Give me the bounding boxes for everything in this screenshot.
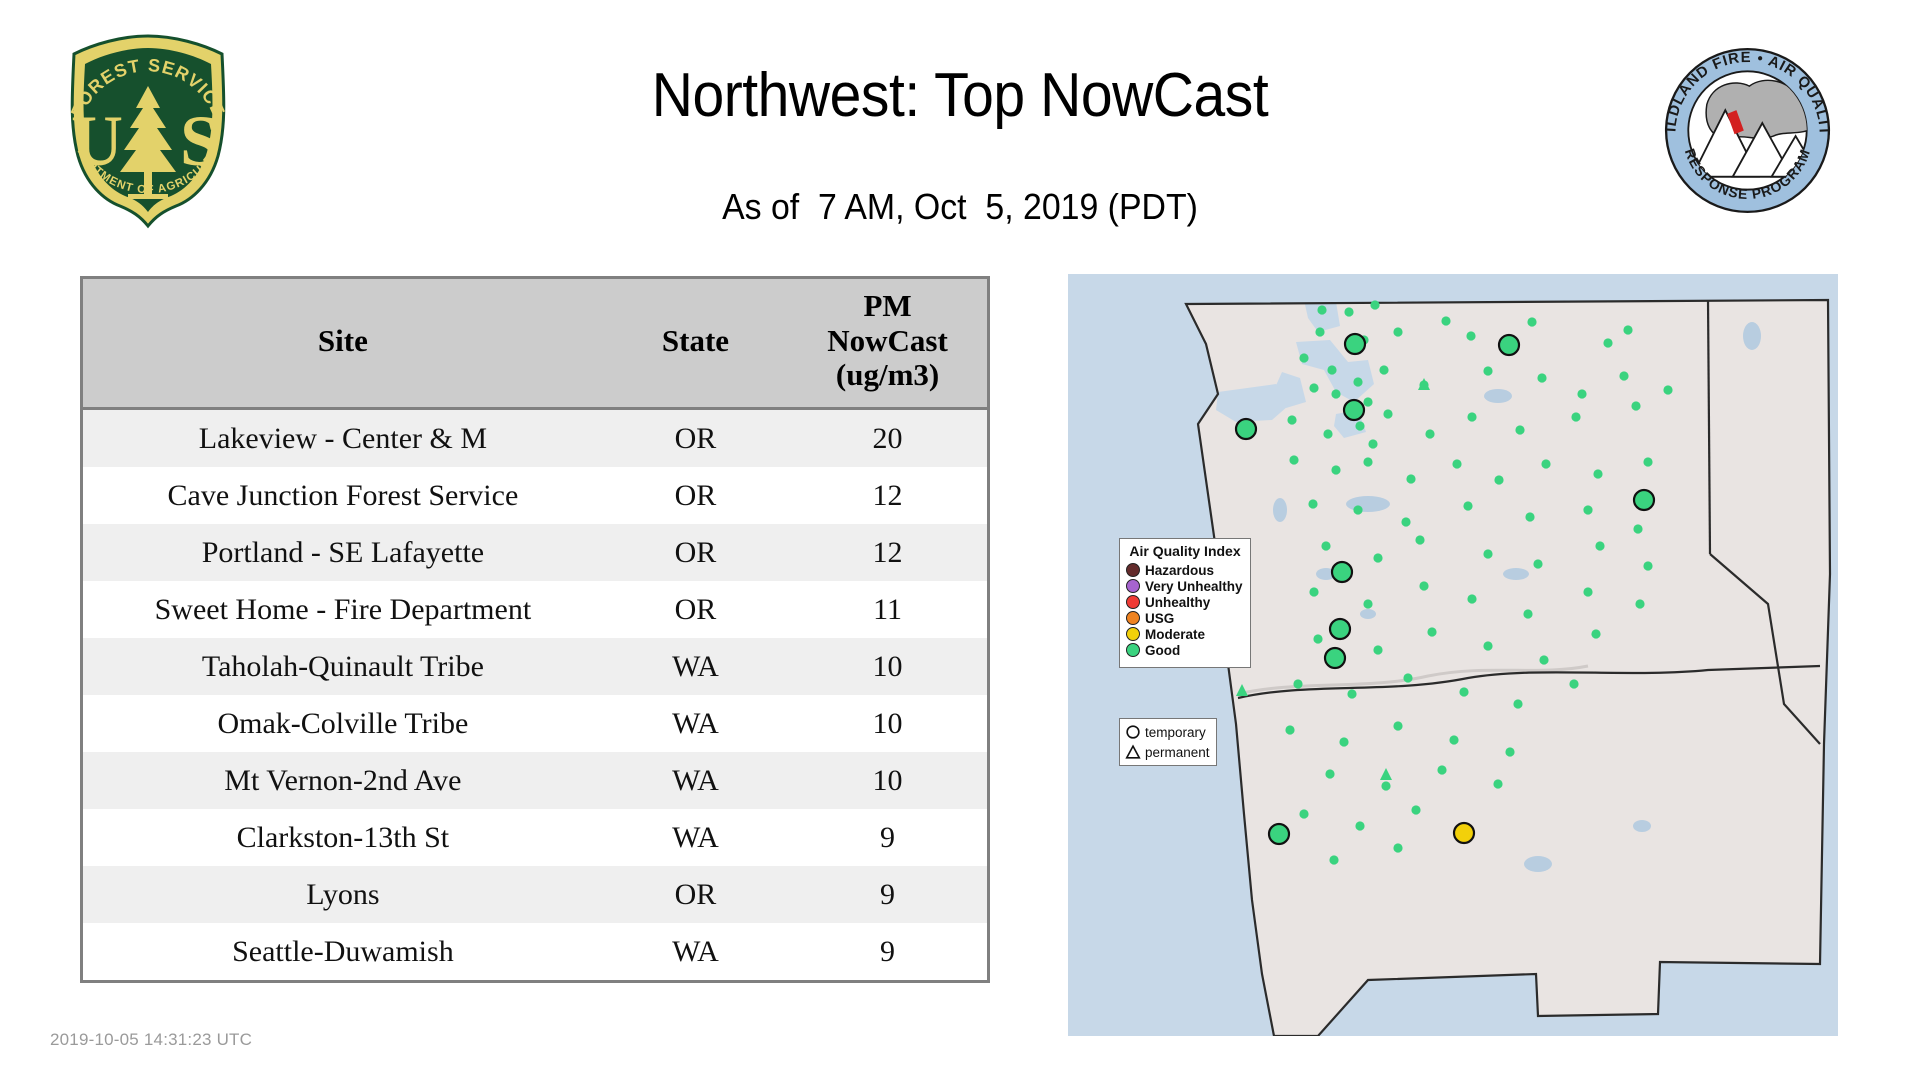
monitor-dot[interactable] bbox=[1593, 469, 1602, 478]
table-header: Site State PM NowCast (ug/m3) bbox=[83, 279, 987, 409]
monitor-dot[interactable] bbox=[1344, 307, 1353, 316]
monitor-dot[interactable] bbox=[1466, 331, 1475, 340]
aqi-legend-row: Unhealthy bbox=[1126, 594, 1244, 610]
monitor-dot[interactable] bbox=[1353, 377, 1362, 386]
monitor-dot[interactable] bbox=[1355, 421, 1364, 430]
monitor-dot[interactable] bbox=[1321, 541, 1330, 550]
cell-site: Mt Vernon-2nd Ave bbox=[83, 752, 603, 809]
top-site-marker[interactable] bbox=[1236, 419, 1256, 439]
cell-pm-nowcast: 11 bbox=[788, 581, 987, 638]
monitor-dot[interactable] bbox=[1293, 679, 1302, 688]
cell-site: Omak-Colville Tribe bbox=[83, 695, 603, 752]
nowcast-table-container: Site State PM NowCast (ug/m3) Lakeview -… bbox=[80, 276, 990, 983]
monitor-dot[interactable] bbox=[1539, 655, 1548, 664]
monitor-dot[interactable] bbox=[1437, 765, 1446, 774]
aqi-legend-label: Hazardous bbox=[1145, 563, 1214, 578]
monitor-dot[interactable] bbox=[1603, 338, 1612, 347]
monitor-dot[interactable] bbox=[1355, 821, 1364, 830]
monitor-dot[interactable] bbox=[1425, 429, 1434, 438]
aqi-legend-label: USG bbox=[1145, 611, 1174, 626]
monitor-dot[interactable] bbox=[1449, 735, 1458, 744]
cell-state: WA bbox=[603, 638, 788, 695]
column-header-pm-nowcast: PM NowCast (ug/m3) bbox=[788, 279, 987, 409]
aqi-legend-label: Very Unhealthy bbox=[1145, 579, 1243, 594]
monitor-dot[interactable] bbox=[1527, 317, 1536, 326]
cell-site: Lakeview - Center & M bbox=[83, 409, 603, 468]
monitor-dot[interactable] bbox=[1663, 385, 1672, 394]
aqi-legend-row: Hazardous bbox=[1126, 562, 1244, 578]
monitor-dot[interactable] bbox=[1459, 687, 1468, 696]
monitor-dot[interactable] bbox=[1363, 397, 1372, 406]
cell-pm-nowcast: 10 bbox=[788, 695, 987, 752]
aqi-legend-row: USG bbox=[1126, 610, 1244, 626]
monitor-dot[interactable] bbox=[1373, 553, 1382, 562]
monitor-dot[interactable] bbox=[1289, 455, 1298, 464]
monitor-dot[interactable] bbox=[1643, 561, 1652, 570]
wildland-fire-air-quality-logo: WILDLAND FIRE • AIR QUALITY RESPONSE PRO… bbox=[1655, 38, 1840, 223]
table-row[interactable]: Cave Junction Forest ServiceOR12 bbox=[83, 467, 987, 524]
monitor-dot[interactable] bbox=[1493, 779, 1502, 788]
aqi-swatch-icon bbox=[1126, 611, 1140, 625]
cell-site: Clarkston-13th St bbox=[83, 809, 603, 866]
top-site-marker[interactable] bbox=[1344, 400, 1364, 420]
monitor-dot[interactable] bbox=[1571, 412, 1580, 421]
monitor-dot[interactable] bbox=[1643, 457, 1652, 466]
monitor-dot[interactable] bbox=[1467, 594, 1476, 603]
symbol-legend-label-temporary: temporary bbox=[1145, 725, 1206, 740]
monitor-dot[interactable] bbox=[1591, 629, 1600, 638]
aqi-swatch-icon bbox=[1126, 643, 1140, 657]
monitor-dot[interactable] bbox=[1595, 541, 1604, 550]
monitor-dot[interactable] bbox=[1287, 415, 1296, 424]
cell-pm-nowcast: 9 bbox=[788, 866, 987, 923]
table-row[interactable]: Portland - SE LafayetteOR12 bbox=[83, 524, 987, 581]
monitor-dot[interactable] bbox=[1381, 781, 1390, 790]
monitor-dot[interactable] bbox=[1577, 389, 1586, 398]
cell-state: OR bbox=[603, 524, 788, 581]
monitor-dot[interactable] bbox=[1411, 805, 1420, 814]
aqi-legend-label: Good bbox=[1145, 643, 1180, 658]
monitor-dot[interactable] bbox=[1569, 679, 1578, 688]
monitor-dot[interactable] bbox=[1299, 353, 1308, 362]
table-row[interactable]: Seattle-DuwamishWA9 bbox=[83, 923, 987, 980]
cell-site: Portland - SE Lafayette bbox=[83, 524, 603, 581]
monitor-dot[interactable] bbox=[1494, 475, 1503, 484]
cell-pm-nowcast: 10 bbox=[788, 752, 987, 809]
monitor-dot[interactable] bbox=[1583, 505, 1592, 514]
temporary-circle-icon bbox=[1124, 723, 1142, 741]
top-site-marker[interactable] bbox=[1499, 335, 1519, 355]
monitor-dot[interactable] bbox=[1583, 587, 1592, 596]
cell-pm-nowcast: 9 bbox=[788, 809, 987, 866]
table-row[interactable]: Mt Vernon-2nd AveWA10 bbox=[83, 752, 987, 809]
top-site-marker[interactable] bbox=[1330, 619, 1350, 639]
aqi-legend-row: Moderate bbox=[1126, 626, 1244, 642]
monitor-dot[interactable] bbox=[1523, 609, 1532, 618]
monitor-dot[interactable] bbox=[1483, 641, 1492, 650]
aqi-swatch-icon bbox=[1126, 563, 1140, 577]
aqi-legend-items: HazardousVery UnhealthyUnhealthyUSGModer… bbox=[1126, 562, 1244, 658]
monitor-dot[interactable] bbox=[1415, 535, 1424, 544]
column-header-site: Site bbox=[83, 279, 603, 409]
monitor-dot[interactable] bbox=[1427, 627, 1436, 636]
cell-state: WA bbox=[603, 752, 788, 809]
cell-state: OR bbox=[603, 581, 788, 638]
table-row[interactable]: Taholah-Quinault TribeWA10 bbox=[83, 638, 987, 695]
monitor-dot[interactable] bbox=[1635, 599, 1644, 608]
pm-header-line-1: PM bbox=[863, 288, 911, 323]
monitor-dot[interactable] bbox=[1363, 599, 1372, 608]
monitor-dot[interactable] bbox=[1541, 459, 1550, 468]
pm-header-line-3: (ug/m3) bbox=[836, 357, 939, 392]
monitor-dot[interactable] bbox=[1323, 429, 1332, 438]
monitor-dot[interactable] bbox=[1325, 769, 1334, 778]
table-row[interactable]: Sweet Home - Fire DepartmentOR11 bbox=[83, 581, 987, 638]
monitor-dot[interactable] bbox=[1373, 645, 1382, 654]
top-site-marker[interactable] bbox=[1634, 490, 1654, 510]
monitor-dot[interactable] bbox=[1483, 549, 1492, 558]
monitor-dot[interactable] bbox=[1393, 721, 1402, 730]
monitor-dot[interactable] bbox=[1339, 737, 1348, 746]
top-site-marker[interactable] bbox=[1325, 648, 1345, 668]
monitor-dot[interactable] bbox=[1452, 459, 1461, 468]
top-site-marker[interactable] bbox=[1454, 823, 1474, 843]
cell-site: Sweet Home - Fire Department bbox=[83, 581, 603, 638]
aqi-swatch-icon bbox=[1126, 627, 1140, 641]
monitor-dot[interactable] bbox=[1309, 587, 1318, 596]
column-header-state: State bbox=[603, 279, 788, 409]
aqi-swatch-icon bbox=[1126, 579, 1140, 593]
monitor-dot[interactable] bbox=[1317, 305, 1326, 314]
nowcast-table: Site State PM NowCast (ug/m3) Lakeview -… bbox=[83, 279, 987, 980]
aqi-legend: Air Quality Index HazardousVery Unhealth… bbox=[1119, 538, 1251, 668]
monitor-dot[interactable] bbox=[1285, 725, 1294, 734]
monitor-dot[interactable] bbox=[1441, 316, 1450, 325]
generation-timestamp: 2019-10-05 14:31:23 UTC bbox=[50, 1030, 252, 1050]
aqi-legend-label: Moderate bbox=[1145, 627, 1205, 642]
monitor-dot[interactable] bbox=[1370, 300, 1379, 309]
monitor-dot[interactable] bbox=[1347, 689, 1356, 698]
symbol-legend-label-permanent: permanent bbox=[1145, 745, 1210, 760]
top-site-marker[interactable] bbox=[1345, 334, 1365, 354]
monitor-dot[interactable] bbox=[1633, 524, 1642, 533]
monitor-dot[interactable] bbox=[1419, 581, 1428, 590]
monitor-dot[interactable] bbox=[1463, 501, 1472, 510]
monitor-dot[interactable] bbox=[1467, 412, 1476, 421]
monitor-dot[interactable] bbox=[1533, 559, 1542, 568]
monitor-dot[interactable] bbox=[1309, 383, 1318, 392]
aqi-legend-title: Air Quality Index bbox=[1126, 543, 1244, 559]
monitor-dot[interactable] bbox=[1353, 505, 1362, 514]
monitor-dot[interactable] bbox=[1315, 327, 1324, 336]
cell-site: Seattle-Duwamish bbox=[83, 923, 603, 980]
cell-state: OR bbox=[603, 409, 788, 468]
table-row[interactable]: Clarkston-13th StWA9 bbox=[83, 809, 987, 866]
permanent-triangle-icon bbox=[1124, 743, 1142, 761]
aqi-legend-label: Unhealthy bbox=[1145, 595, 1210, 610]
cell-pm-nowcast: 10 bbox=[788, 638, 987, 695]
table-row[interactable]: LyonsOR9 bbox=[83, 866, 987, 923]
table-body: Lakeview - Center & MOR20Cave Junction F… bbox=[83, 409, 987, 981]
pm-header-line-2: NowCast bbox=[827, 323, 948, 358]
aqi-swatch-icon bbox=[1126, 595, 1140, 609]
monitor-dot[interactable] bbox=[1393, 843, 1402, 852]
monitor-dot[interactable] bbox=[1331, 389, 1340, 398]
monitor-dot[interactable] bbox=[1403, 673, 1412, 682]
cell-site: Lyons bbox=[83, 866, 603, 923]
monitor-dot[interactable] bbox=[1363, 457, 1372, 466]
table-row[interactable]: Omak-Colville TribeWA10 bbox=[83, 695, 987, 752]
symbol-legend: temporary permanent bbox=[1119, 718, 1217, 766]
cell-pm-nowcast: 12 bbox=[788, 524, 987, 581]
monitor-dot[interactable] bbox=[1619, 371, 1628, 380]
monitor-dot[interactable] bbox=[1401, 517, 1410, 526]
aqi-legend-row: Very Unhealthy bbox=[1126, 578, 1244, 594]
cell-state: OR bbox=[603, 467, 788, 524]
monitor-dot[interactable] bbox=[1299, 809, 1308, 818]
monitor-dot[interactable] bbox=[1368, 439, 1377, 448]
monitor-dot[interactable] bbox=[1313, 634, 1322, 643]
cell-pm-nowcast: 20 bbox=[788, 409, 987, 468]
top-site-marker[interactable] bbox=[1269, 824, 1289, 844]
monitor-dot[interactable] bbox=[1513, 699, 1522, 708]
symbol-legend-row-permanent: permanent bbox=[1124, 742, 1212, 762]
table-row[interactable]: Lakeview - Center & MOR20 bbox=[83, 409, 987, 468]
cell-pm-nowcast: 9 bbox=[788, 923, 987, 980]
monitor-dot[interactable] bbox=[1406, 474, 1415, 483]
monitor-dot[interactable] bbox=[1483, 366, 1492, 375]
page-title: Northwest: Top NowCast bbox=[77, 60, 1843, 131]
monitor-dot[interactable] bbox=[1623, 325, 1632, 334]
cell-pm-nowcast: 12 bbox=[788, 467, 987, 524]
monitor-dot[interactable] bbox=[1515, 425, 1524, 434]
cell-site: Cave Junction Forest Service bbox=[83, 467, 603, 524]
cell-state: WA bbox=[603, 809, 788, 866]
cell-state: WA bbox=[603, 695, 788, 752]
monitor-dot[interactable] bbox=[1327, 365, 1336, 374]
table-header-row: Site State PM NowCast (ug/m3) bbox=[83, 279, 987, 409]
aqi-legend-row: Good bbox=[1126, 642, 1244, 658]
monitor-dot[interactable] bbox=[1383, 409, 1392, 418]
symbol-legend-row-temporary: temporary bbox=[1124, 722, 1212, 742]
cell-site: Taholah-Quinault Tribe bbox=[83, 638, 603, 695]
page-subtitle: As of 7 AM, Oct 5, 2019 (PDT) bbox=[58, 186, 1863, 228]
monitor-dot[interactable] bbox=[1308, 499, 1317, 508]
monitor-dot[interactable] bbox=[1631, 401, 1640, 410]
monitor-dot[interactable] bbox=[1393, 327, 1402, 336]
monitor-dot[interactable] bbox=[1505, 747, 1514, 756]
monitor-dot[interactable] bbox=[1379, 365, 1388, 374]
monitor-dot[interactable] bbox=[1537, 373, 1546, 382]
monitor-dot[interactable] bbox=[1331, 465, 1340, 474]
cell-state: OR bbox=[603, 866, 788, 923]
monitor-dot[interactable] bbox=[1329, 855, 1338, 864]
top-site-marker[interactable] bbox=[1332, 562, 1352, 582]
monitor-dot[interactable] bbox=[1525, 512, 1534, 521]
cell-state: WA bbox=[603, 923, 788, 980]
